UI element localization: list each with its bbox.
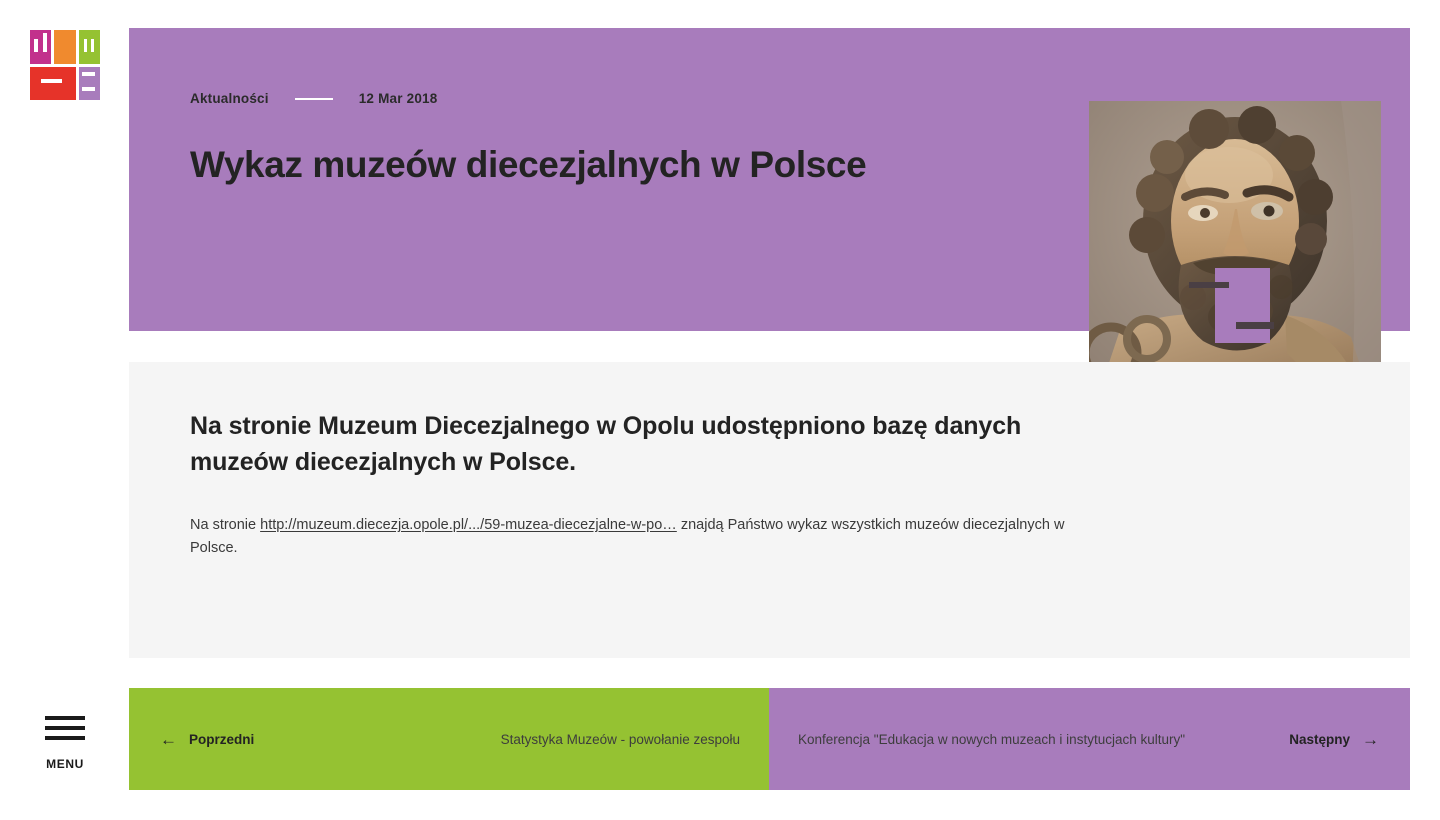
logo-letter-m [79, 30, 100, 64]
meta-divider-rule [295, 98, 333, 100]
article-content: Na stronie Muzeum Diecezjalnego w Opolu … [129, 362, 1410, 658]
logo-letter-z [79, 67, 100, 101]
paragraph-text-before: Na stronie [190, 517, 260, 533]
external-link[interactable]: http://muzeum.diecezja.opole.pl/.../59-m… [260, 517, 677, 533]
pager-next-label[interactable]: Następny → [1289, 731, 1379, 748]
pager-previous-text: Poprzedni [189, 732, 254, 747]
menu-toggle[interactable]: MENU [45, 716, 85, 771]
logo-letter-n [30, 30, 51, 64]
site-logo[interactable] [30, 30, 100, 100]
pager-previous-title[interactable]: Statystyka Muzeów - powołanie zespołu [501, 732, 740, 747]
hero-category[interactable]: Aktualności [190, 91, 269, 106]
image-watermark-z [1215, 268, 1270, 343]
pager-next-title[interactable]: Konferencja "Edukacja w nowych muzeach i… [798, 732, 1185, 747]
pager-next[interactable]: Konferencja "Edukacja w nowych muzeach i… [769, 688, 1410, 790]
hamburger-icon[interactable] [45, 716, 85, 740]
pager-previous-label[interactable]: ← Poprzedni [160, 731, 254, 748]
article-pager: ← Poprzedni Statystyka Muzeów - powołani… [129, 688, 1410, 790]
arrow-left-icon: ← [160, 731, 177, 748]
article-paragraph: Na stronie http://muzeum.diecezja.opole.… [190, 514, 1070, 561]
menu-label: MENU [45, 757, 85, 771]
pager-next-text: Następny [1289, 732, 1350, 747]
arrow-right-icon: → [1362, 731, 1379, 748]
page-title: Wykaz muzeów diecezjalnych w Polsce [190, 143, 1090, 187]
logo-letter-i [54, 30, 75, 64]
pager-previous[interactable]: ← Poprzedni Statystyka Muzeów - powołani… [129, 688, 769, 790]
article-lead: Na stronie Muzeum Diecezjalnego w Opolu … [190, 408, 1040, 480]
logo-letter-dash [30, 67, 76, 101]
hero-image [1089, 101, 1381, 393]
hero-date: 12 Mar 2018 [359, 91, 438, 106]
hero-meta: Aktualności 12 Mar 2018 [190, 91, 437, 106]
